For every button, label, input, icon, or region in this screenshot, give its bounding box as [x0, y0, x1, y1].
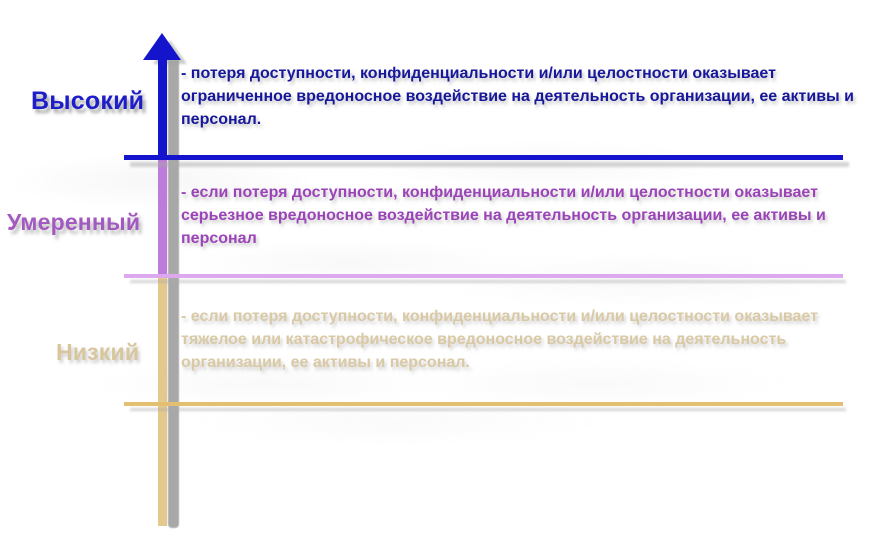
tier-label-high: Высокий: [31, 87, 144, 116]
divider-moderate: [124, 274, 843, 278]
tier-label-moderate: Умеренный: [7, 209, 140, 236]
tier-label-low: Низкий: [56, 339, 139, 366]
axis-segment-moderate: [158, 160, 167, 278]
divider-high-shadow: [130, 162, 849, 167]
tier-description-moderate: - если потеря доступности, конфиденциаль…: [181, 181, 878, 250]
axis-arrowhead-icon: [143, 33, 181, 60]
axis-segment-high: [158, 56, 167, 160]
axis-drop-shadow: [168, 60, 179, 528]
divider-low-shadow: [130, 408, 846, 411]
divider-high: [124, 155, 843, 160]
tier-description-low: - если потеря доступности, конфиденциаль…: [181, 305, 878, 374]
risk-levels-diagram: Высокий Умеренный Низкий - потеря доступ…: [0, 0, 878, 548]
tier-description-high: - потеря доступности, конфиденциальности…: [181, 62, 878, 131]
divider-moderate-shadow: [130, 280, 846, 283]
divider-low: [124, 402, 843, 406]
